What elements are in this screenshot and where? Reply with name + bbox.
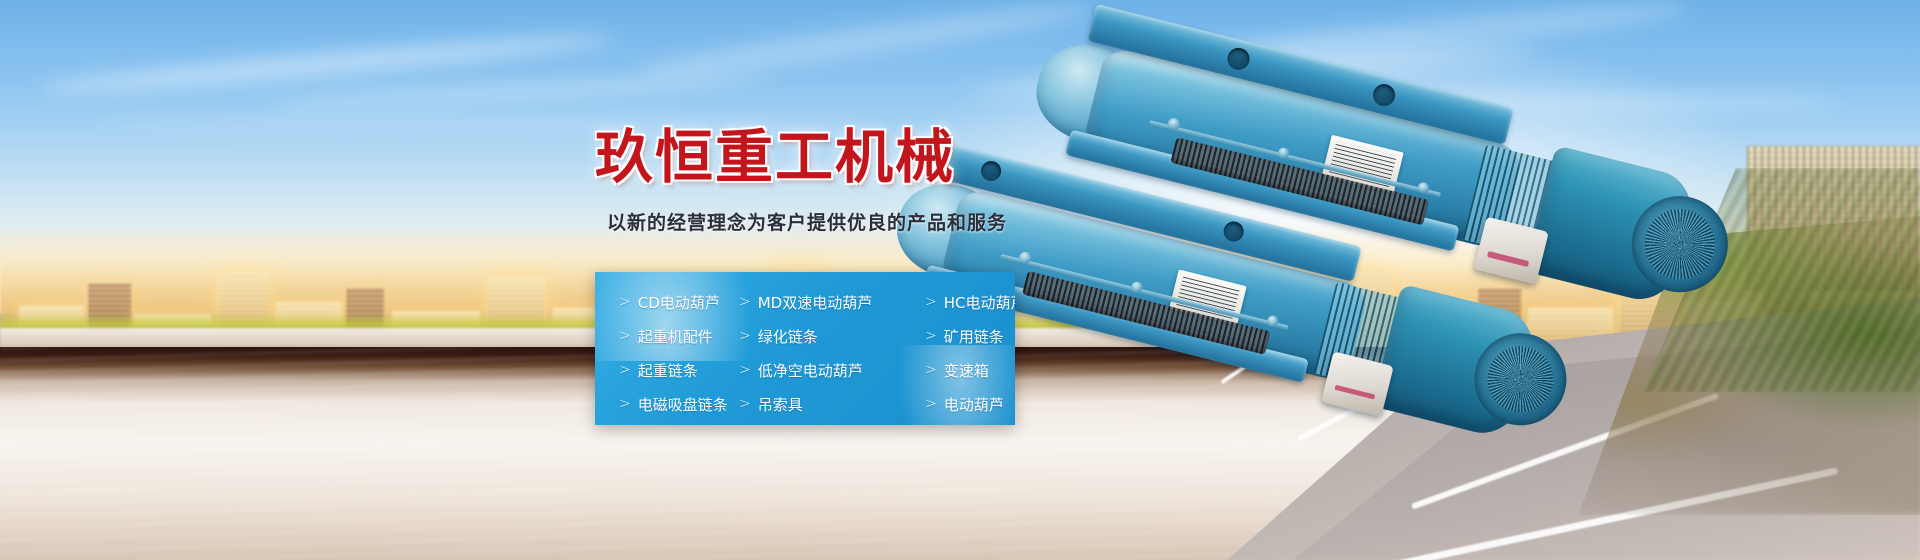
product-link-label: 变速箱 <box>944 360 989 381</box>
product-link-label: 低净空电动葫芦 <box>758 360 863 381</box>
chevron-right-icon: > <box>619 294 631 310</box>
product-link-mining-chain[interactable]: > 矿用链条 <box>899 319 1015 353</box>
chevron-right-icon: > <box>739 294 751 310</box>
product-link-label: 电动葫芦 <box>944 394 1004 415</box>
product-link-md-dual-speed-hoist[interactable]: > MD双速电动葫芦 <box>739 285 899 319</box>
product-link-label: 绿化链条 <box>758 326 818 347</box>
product-link-label: HC电动葫芦 <box>944 292 1015 313</box>
chevron-right-icon: > <box>739 396 751 412</box>
product-link-label: 吊索具 <box>758 394 803 415</box>
page-title: 玖恒重工机械 <box>595 128 1025 186</box>
product-link-label: CD电动葫芦 <box>638 292 720 313</box>
headline-block: 玖恒重工机械 以新的经营理念为客户提供优良的产品和服务 <box>595 128 1025 235</box>
product-link-label: MD双速电动葫芦 <box>758 292 873 313</box>
product-link-hc-hoist[interactable]: > HC电动葫芦 <box>899 285 1015 319</box>
product-link-magnetic-chuck-chain[interactable]: > 电磁吸盘链条 <box>619 387 739 421</box>
product-link-label: 矿用链条 <box>944 326 1004 347</box>
chevron-right-icon: > <box>739 328 751 344</box>
chevron-right-icon: > <box>925 362 937 378</box>
product-link-slings[interactable]: > 吊索具 <box>739 387 899 421</box>
chevron-right-icon: > <box>739 362 751 378</box>
chevron-right-icon: > <box>619 362 631 378</box>
product-link-low-headroom-hoist[interactable]: > 低净空电动葫芦 <box>739 353 899 387</box>
product-link-label: 电磁吸盘链条 <box>638 394 728 415</box>
product-link-gearbox[interactable]: > 变速箱 <box>899 353 1015 387</box>
product-link-cd-hoist[interactable]: > CD电动葫芦 <box>619 285 739 319</box>
product-link-lifting-chain[interactable]: > 起重链条 <box>619 353 739 387</box>
page-subtitle: 以新的经营理念为客户提供优良的产品和服务 <box>607 208 1025 235</box>
product-link-electric-hoist[interactable]: > 电动葫芦 <box>899 387 1015 421</box>
hero-banner: 玖恒重工机械 以新的经营理念为客户提供优良的产品和服务 > CD电动葫芦 > M… <box>0 0 1920 560</box>
product-link-label: 起重链条 <box>638 360 698 381</box>
chevron-right-icon: > <box>619 328 631 344</box>
chevron-right-icon: > <box>619 396 631 412</box>
chevron-right-icon: > <box>925 328 937 344</box>
product-link-label: 起重机配件 <box>638 326 713 347</box>
product-links-panel: > CD电动葫芦 > MD双速电动葫芦 > HC电动葫芦 > 起重机配件 > 绿… <box>595 272 1015 425</box>
product-link-crane-parts[interactable]: > 起重机配件 <box>619 319 739 353</box>
product-links-grid: > CD电动葫芦 > MD双速电动葫芦 > HC电动葫芦 > 起重机配件 > 绿… <box>595 272 1015 425</box>
chevron-right-icon: > <box>925 294 937 310</box>
product-link-greening-chain[interactable]: > 绿化链条 <box>739 319 899 353</box>
chevron-right-icon: > <box>925 396 937 412</box>
cloud <box>269 72 768 112</box>
